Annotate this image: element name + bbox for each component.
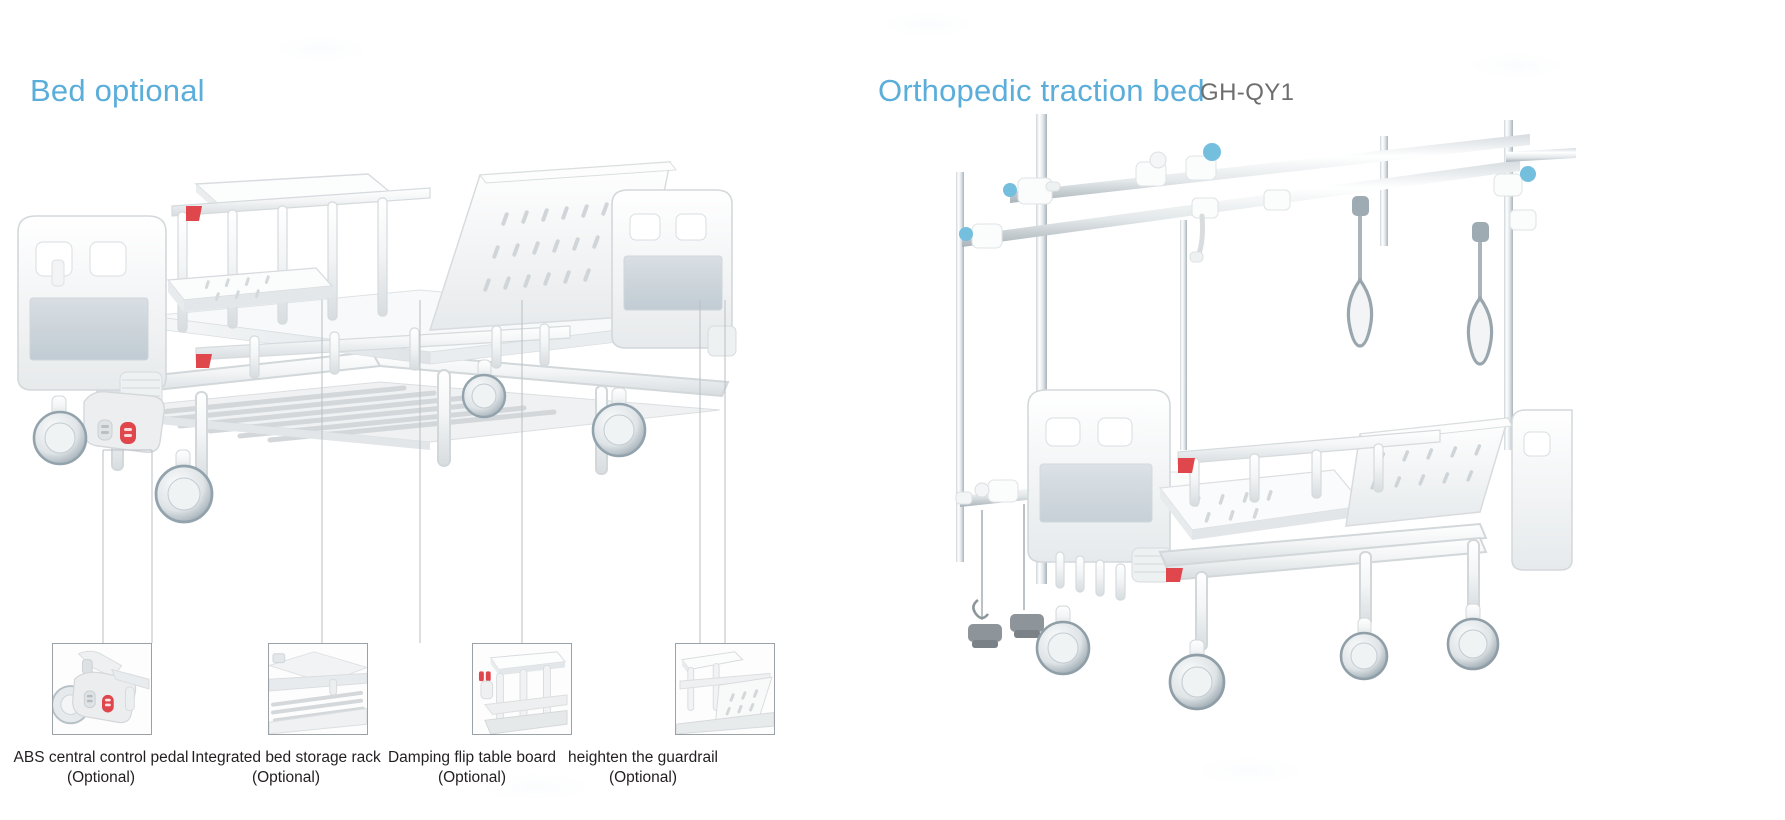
- traction-bed-base-frame: [1160, 524, 1486, 650]
- frame-release-lever: [1166, 568, 1183, 582]
- option-thumbnail-strip: [0, 643, 780, 738]
- guardrail-release-lever: [1178, 458, 1195, 473]
- catalog-page: Bed optional Orthopedic traction bed GH-…: [0, 0, 1785, 820]
- caption-sub: (Optional): [528, 768, 758, 788]
- caption-title: heighten the guardrail: [568, 749, 718, 766]
- bed-deck-sections: [1160, 418, 1512, 540]
- caption-title: Integrated bed storage rack: [191, 749, 381, 766]
- abs-central-control-pedal-thumbnail[interactable]: [52, 643, 152, 735]
- damping-flip-table-board-thumbnail[interactable]: [472, 643, 572, 735]
- traction-bed-footboard: [1512, 410, 1572, 570]
- caption-title: ABS central control pedal: [14, 749, 189, 766]
- trapeze-handles: [1348, 196, 1491, 364]
- callout-leader-lines: [0, 300, 780, 660]
- heighten-the-guardrail-thumbnail[interactable]: [675, 643, 775, 735]
- orthopedic-traction-bed-image: [860, 100, 1580, 720]
- traction-bed-casters: [1037, 604, 1498, 709]
- integrated-bed-storage-rack-thumbnail[interactable]: [268, 643, 368, 735]
- left-section-heading: Bed optional: [30, 73, 205, 109]
- traction-bed-headboard: [1028, 390, 1172, 582]
- caption-heighten-the-guardrail: heighten the guardrail (Optional): [528, 748, 758, 788]
